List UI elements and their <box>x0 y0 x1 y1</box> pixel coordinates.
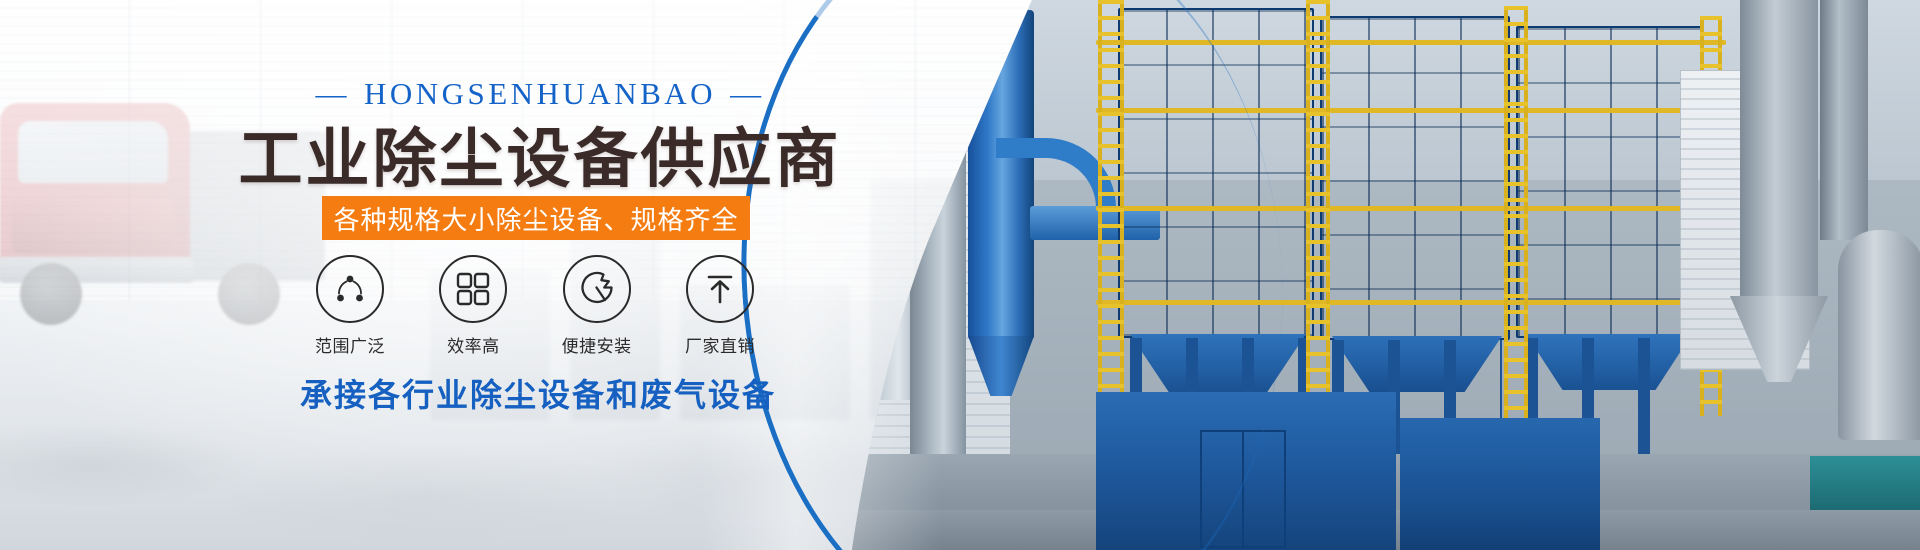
highlight-bar: 各种规格大小除尘设备、规格齐全 <box>322 196 750 240</box>
feature-label: 效率高 <box>423 332 523 357</box>
feature-label: 厂家直销 <box>670 332 770 357</box>
grey-duct <box>1820 0 1868 240</box>
teal-fence <box>1810 456 1920 510</box>
eyebrow-right-dash: — <box>716 76 779 112</box>
page-title-text: 工业除尘设备供应商 <box>239 108 842 200</box>
yellow-safety-ladder <box>1306 0 1330 420</box>
network-nodes-icon <box>316 255 384 323</box>
highlight-bar-text: 各种规格大小除尘设备、规格齐全 <box>333 200 738 237</box>
baghouse-unit-2 <box>1320 16 1510 340</box>
grid-squares-icon <box>439 255 507 323</box>
eyebrow-left-dash: — <box>301 76 364 112</box>
wrench-icon <box>563 255 631 323</box>
baghouse-unit-3 <box>1516 26 1702 338</box>
arrow-up-bar-icon <box>686 255 754 323</box>
brand-eyebrow: —HONGSENHUANBAO— <box>0 76 1100 112</box>
tagline-text: 承接各行业除尘设备和废气设备 <box>300 370 776 416</box>
tagline: 承接各行业除尘设备和废气设备 <box>0 370 1100 416</box>
feature-label: 便捷安装 <box>547 332 647 357</box>
banner-content: —HONGSENHUANBAO— 工业除尘设备供应商 各种规格大小除尘设备、规格… <box>0 0 1100 550</box>
feature-list: 范围广泛 效率高 <box>300 255 770 357</box>
feature-label: 范围广泛 <box>300 332 400 357</box>
page-title: 工业除尘设备供应商 <box>0 108 1100 200</box>
feature-item-range[interactable]: 范围广泛 <box>300 255 400 357</box>
hero-banner: —HONGSENHUANBAO— 工业除尘设备供应商 各种规格大小除尘设备、规格… <box>0 0 1920 550</box>
feature-item-efficiency[interactable]: 效率高 <box>423 255 523 357</box>
yellow-safety-ladder <box>1504 6 1528 421</box>
feature-item-direct-sales[interactable]: 厂家直销 <box>670 255 770 357</box>
blue-base-housing-2 <box>1400 418 1600 550</box>
grey-metal-tower <box>1740 0 1818 300</box>
feature-item-installation[interactable]: 便捷安装 <box>547 255 647 357</box>
grey-storage-tank <box>1838 230 1920 440</box>
eyebrow-text: HONGSENHUANBAO <box>364 76 716 111</box>
